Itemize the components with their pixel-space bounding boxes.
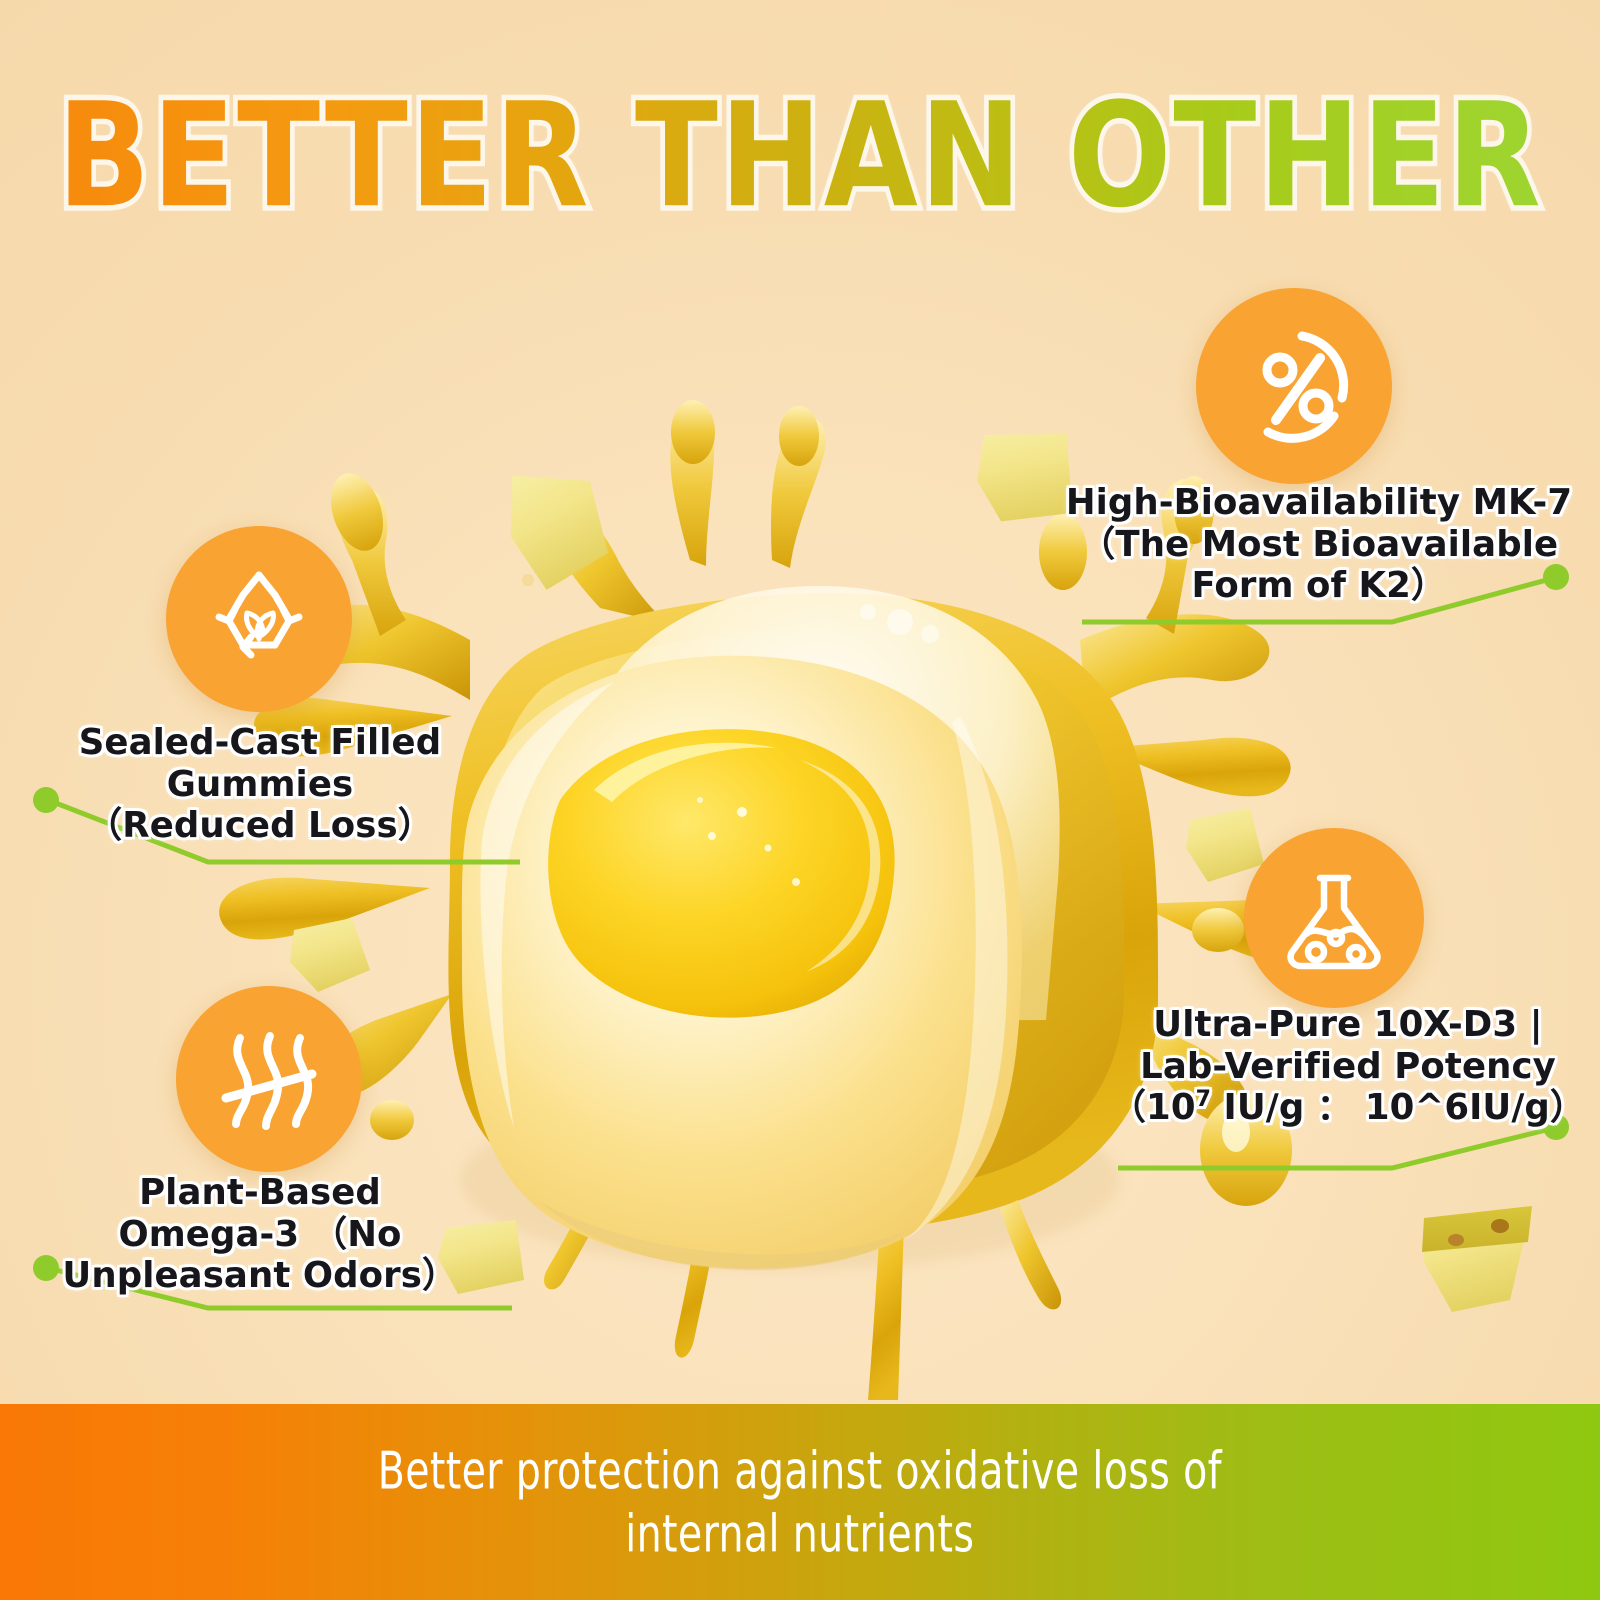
ultra-pure-line2: Lab-Verified Potency [1140,1046,1556,1087]
percent-circle-icon [1196,288,1392,484]
ultra-pure-line1: Ultra-Pure 10X-D3 | [1153,1004,1542,1045]
feature-bioavailability-label: High-Bioavailability MK-7 （The Most Bioa… [1046,482,1592,607]
infographic-poster: BETTER THAN OTHER BETTER THAN OTHER [0,0,1600,1600]
feature-sealed-cast-label: Sealed-Cast Filled Gummies （Reduced Loss… [20,722,500,847]
ultra-pure-exponent: 7 [1196,1087,1211,1112]
bottom-banner: Better protection against oxidative loss… [0,1404,1600,1600]
ultra-pure-line3-post: IU/g ： 10^6IU/g） [1211,1087,1585,1128]
ultra-pure-line3-pre: （10 [1110,1087,1195,1128]
feature-ultra-pure-label: Ultra-Pure 10X-D3 |Lab-Verified Potency（… [1108,1004,1588,1129]
recycle-leaf-icon [166,526,352,712]
no-odor-waves-icon [176,986,362,1172]
feature-plant-omega-label: Plant-Based Omega-3 （No Unpleasant Odors… [14,1172,506,1297]
lab-flask-icon [1244,828,1424,1008]
bottom-banner-text: Better protection against oxidative loss… [378,1439,1222,1565]
